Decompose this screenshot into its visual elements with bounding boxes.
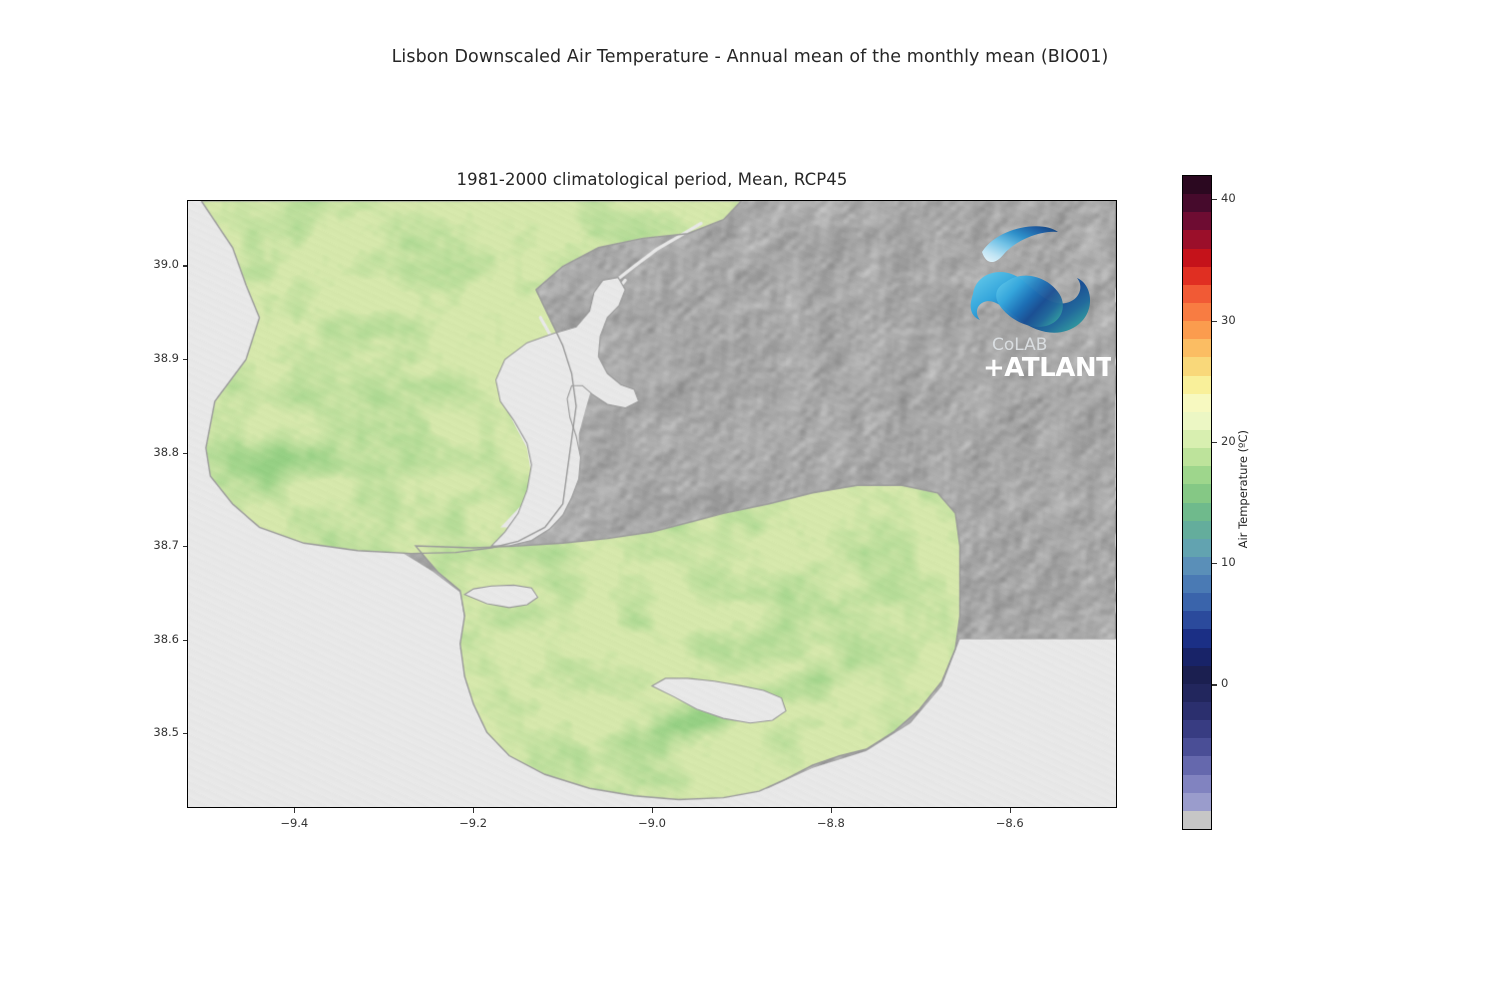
x-axis-tick-label: −8.8 [801, 816, 861, 830]
x-axis-tick-mark [294, 808, 295, 813]
x-axis-tick-mark [1010, 808, 1011, 813]
colorbar-band [1183, 719, 1211, 738]
colorbar-label: Air Temperature (ºC) [1236, 430, 1250, 548]
colorbar-tick-mark [1212, 684, 1217, 685]
colorbar-band [1183, 556, 1211, 575]
colorbar-band [1183, 756, 1211, 775]
page-title: Lisbon Downscaled Air Temperature - Annu… [0, 47, 1500, 67]
colorbar-band [1183, 611, 1211, 630]
colorbar-band [1183, 212, 1211, 231]
y-axis-tick-mark [183, 546, 188, 547]
colorbar-band [1183, 574, 1211, 593]
y-axis-tick-mark [183, 359, 188, 360]
y-axis-tick-mark [183, 640, 188, 641]
colorbar-band [1183, 665, 1211, 684]
y-axis-tick-mark [183, 733, 188, 734]
colorbar-tick-mark [1212, 442, 1217, 443]
colorbar-band [1183, 792, 1211, 811]
y-axis-tick-label: 39.0 [125, 257, 179, 271]
temperature-raster-map [188, 201, 1116, 807]
x-axis-tick-mark [473, 808, 474, 813]
colorbar-band [1183, 592, 1211, 611]
colorbar-tick-label: 10 [1221, 555, 1236, 569]
x-axis-tick-mark [652, 808, 653, 813]
colorbar-band [1183, 738, 1211, 757]
x-axis-tick-label: −8.6 [980, 816, 1040, 830]
colorbar-tick-mark [1212, 199, 1217, 200]
x-axis-tick-label: −9.0 [622, 816, 682, 830]
y-axis-tick-label: 38.9 [125, 351, 179, 365]
colorbar-band [1183, 447, 1211, 466]
colorbar-tick-label: 20 [1221, 434, 1236, 448]
colorbar-tick-label: 30 [1221, 313, 1236, 327]
colorbar-band [1183, 774, 1211, 793]
x-axis-tick-mark [831, 808, 832, 813]
colorbar-band [1183, 502, 1211, 521]
colorbar-band [1183, 484, 1211, 503]
colorbar-band [1183, 302, 1211, 321]
colorbar-band [1183, 248, 1211, 267]
colorbar-tick-mark [1212, 563, 1217, 564]
figure-canvas: Lisbon Downscaled Air Temperature - Annu… [0, 0, 1500, 1000]
y-axis-tick-label: 38.6 [125, 632, 179, 646]
colorbar-band [1183, 429, 1211, 448]
colorbar-band [1183, 465, 1211, 484]
map-plot-area[interactable] [187, 200, 1117, 808]
colorbar-tick-mark [1212, 321, 1217, 322]
colorbar-tick-label: 40 [1221, 191, 1236, 205]
chart-subtitle: 1981-2000 climatological period, Mean, R… [187, 170, 1117, 189]
colorbar-band [1183, 266, 1211, 285]
x-axis-tick-label: −9.4 [264, 816, 324, 830]
colorbar-band [1183, 411, 1211, 430]
y-axis-tick-mark [183, 265, 188, 266]
colorbar-band [1183, 683, 1211, 702]
colorbar-band [1183, 357, 1211, 376]
colorbar-band [1183, 375, 1211, 394]
y-axis-tick-label: 38.5 [125, 725, 179, 739]
colorbar-band [1183, 320, 1211, 339]
colorbar-band [1183, 175, 1211, 194]
y-axis-tick-label: 38.7 [125, 538, 179, 552]
colorbar-band [1183, 810, 1211, 829]
x-axis-tick-label: −9.2 [443, 816, 503, 830]
colorbar[interactable] [1182, 175, 1212, 830]
colorbar-band [1183, 230, 1211, 249]
colorbar-band [1183, 193, 1211, 212]
colorbar-band [1183, 393, 1211, 412]
y-axis-tick-mark [183, 453, 188, 454]
colorbar-band [1183, 338, 1211, 357]
colorbar-band [1183, 520, 1211, 539]
colorbar-band [1183, 647, 1211, 666]
colorbar-band [1183, 701, 1211, 720]
y-axis-tick-label: 38.8 [125, 445, 179, 459]
colorbar-band [1183, 629, 1211, 648]
colorbar-band [1183, 284, 1211, 303]
colorbar-tick-label: 0 [1221, 676, 1228, 690]
colorbar-band [1183, 538, 1211, 557]
